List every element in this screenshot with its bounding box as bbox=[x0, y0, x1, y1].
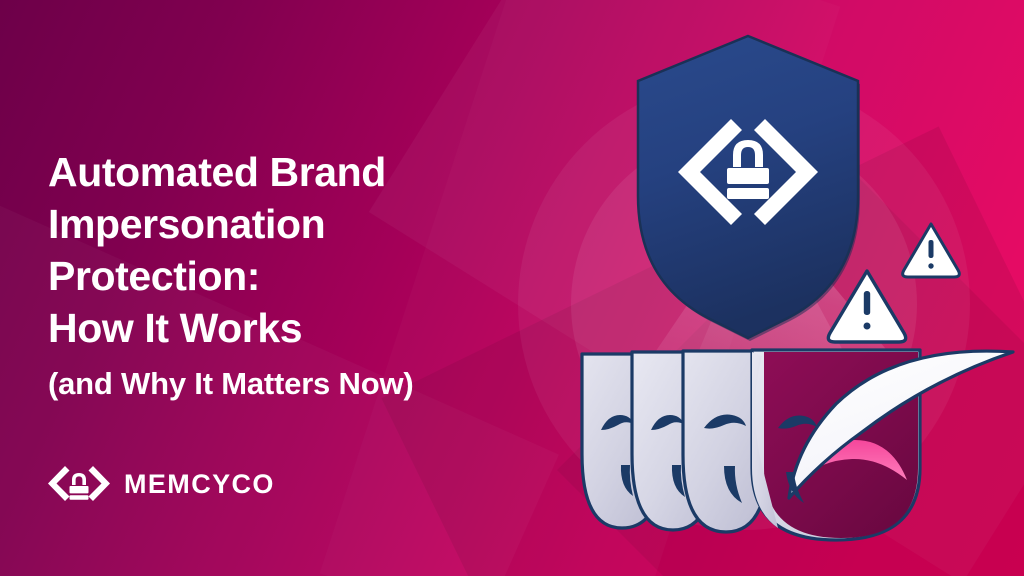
alert-triangle-small bbox=[903, 224, 960, 277]
brackets-lock-icon bbox=[48, 461, 110, 507]
memcyco-logo[interactable]: MEMCYCO bbox=[48, 461, 275, 507]
headline-subtitle: (and Why It Matters Now) bbox=[48, 364, 518, 404]
headline-line-4: How It Works bbox=[48, 302, 518, 354]
memcyco-wordmark: MEMCYCO bbox=[124, 471, 275, 498]
page-title: Automated Brand Impersonation Protection… bbox=[48, 146, 518, 404]
hero-banner: Automated Brand Impersonation Protection… bbox=[0, 0, 1024, 576]
mask-dark-revealed bbox=[747, 350, 1014, 540]
headline-line-1: Automated Brand bbox=[48, 146, 518, 198]
headline-line-3: Protection: bbox=[48, 250, 518, 302]
headline-line-2: Impersonation bbox=[48, 198, 518, 250]
